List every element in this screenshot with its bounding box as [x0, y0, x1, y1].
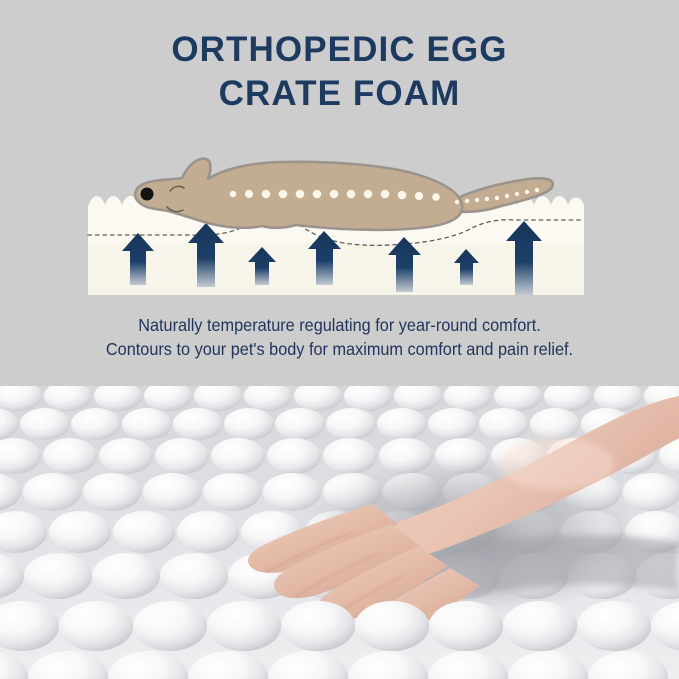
- dog-nose: [141, 188, 154, 201]
- egg-crate-foam-photo: [0, 386, 679, 679]
- dog-on-foam-illustration: [0, 125, 679, 310]
- title-line-2: CRATE FOAM: [0, 72, 679, 116]
- caption-line-1: Naturally temperature regulating for yea…: [24, 313, 655, 337]
- page-title: ORTHOPEDIC EGG CRATE FOAM: [0, 28, 679, 116]
- top-info-panel: ORTHOPEDIC EGG CRATE FOAM: [0, 0, 679, 386]
- title-line-1: ORTHOPEDIC EGG: [0, 28, 679, 72]
- caption-block: Naturally temperature regulating for yea…: [0, 313, 679, 361]
- caption-line-2: Contours to your pet's body for maximum …: [24, 337, 655, 361]
- product-infographic: ORTHOPEDIC EGG CRATE FOAM: [0, 0, 679, 679]
